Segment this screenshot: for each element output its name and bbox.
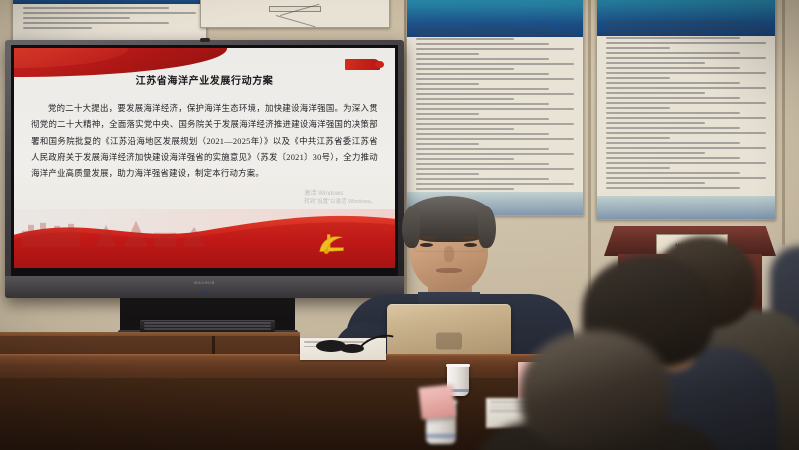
laptop-logo	[436, 333, 462, 350]
presenter-eye	[420, 243, 433, 247]
display-screen[interactable]: 江苏省海洋产业发展行动方案 党的二十大提出，要发展海洋经济，保护海洋生态环境，加…	[14, 48, 395, 268]
meeting-room-scene: 江苏省海洋产业发展行动方案 党的二十大提出，要发展海洋经济，保护海洋生态环境，加…	[0, 0, 799, 450]
presenter-brow	[418, 236, 436, 239]
audience-member	[490, 330, 700, 450]
presenter-mouth	[436, 268, 462, 273]
slide-bottom-wave	[14, 209, 395, 268]
display-camera	[200, 38, 210, 42]
wall-display[interactable]: 江苏省海洋产业发展行动方案 党的二十大提出，要发展海洋经济，保护海洋生态环境，加…	[5, 40, 404, 298]
presenter-eye	[464, 243, 477, 247]
slide-body-text: 党的二十大提出，要发展海洋经济，保护海洋生态环境，加快建设海洋强国。为深入贯彻党…	[31, 101, 378, 183]
presenter-nose	[444, 246, 454, 262]
cup-rim	[446, 364, 470, 367]
presenter-brow	[462, 236, 480, 239]
ir-receiver-icon	[201, 291, 208, 294]
display-brand-label: MAXHUB	[194, 280, 215, 285]
audience-head	[520, 330, 670, 448]
cup-band	[426, 434, 456, 438]
presentation-slide: 江苏省海洋产业发展行动方案 党的二十大提出，要发展海洋经济，保护海洋生态环境，加…	[14, 48, 395, 268]
slide-dot-decoration	[375, 61, 383, 68]
display-brand-bar: MAXHUB	[5, 276, 404, 298]
slide-title: 江苏省海洋产业发展行动方案	[14, 72, 395, 87]
table-name-card	[418, 384, 455, 419]
